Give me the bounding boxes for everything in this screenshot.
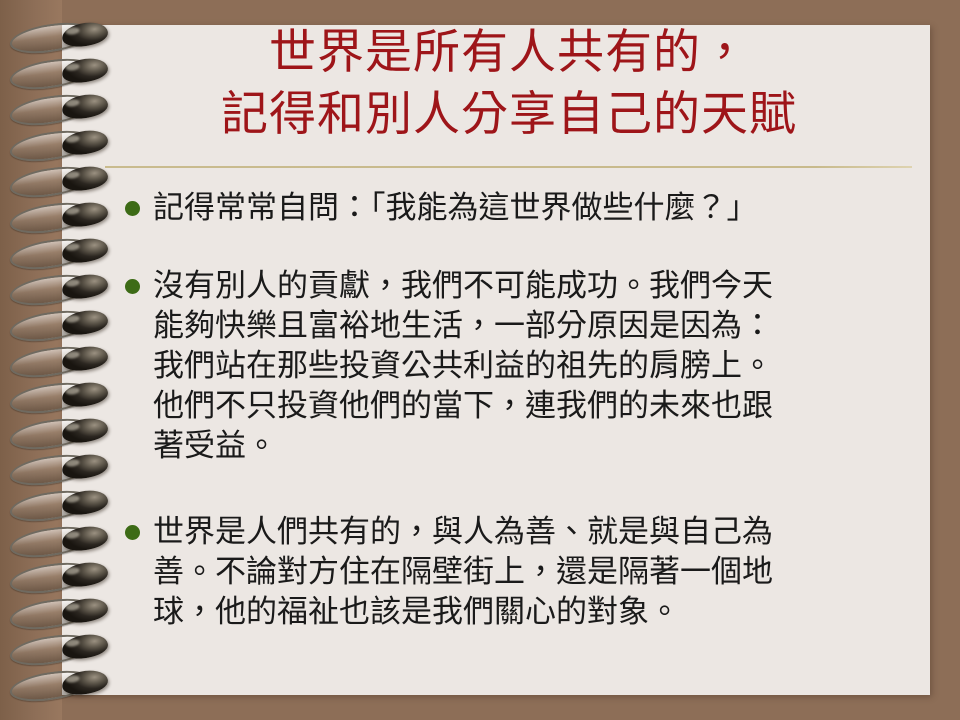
list-item-text: 記得常常自問：「我能為這世界做些什麼？」 [153, 188, 910, 228]
text-line: 他們不只投資他們的當下，連我們的未來也跟 [153, 386, 910, 426]
text-line: 著受益。 [153, 426, 910, 466]
list-item-text: 世界是人們共有的，與人為善、就是與自己為 善。不論對方住在隔壁街上，還是隔著一個… [153, 512, 910, 632]
text-line: 善。不論對方住在隔壁街上，還是隔著一個地 [153, 552, 910, 592]
text-line: 我們站在那些投資公共利益的祖先的肩膀上。 [153, 346, 910, 386]
text-line: 記得常常自問：「我能為這世界做些什麼？」 [153, 188, 910, 228]
slide-title: 世界是所有人共有的， 記得和別人分享自己的天賦 [105, 22, 913, 146]
text-line: 世界是人們共有的，與人為善、就是與自己為 [153, 512, 910, 552]
text-line: 沒有別人的貢獻，我們不可能成功。我們今天 [153, 266, 910, 306]
slide-canvas: 世界是所有人共有的， 記得和別人分享自己的天賦 記得常常自問：「我能為這世界做些… [0, 0, 960, 720]
bullet-dot-icon [125, 201, 140, 216]
list-item-text: 沒有別人的貢獻，我們不可能成功。我們今天 能夠快樂且富裕地生活，一部分原因是因為… [153, 266, 910, 466]
list-item: 記得常常自問：「我能為這世界做些什麼？」 [120, 188, 910, 228]
text-line: 球，他的福祉也該是我們關心的對象。 [153, 592, 910, 632]
title-line-2: 記得和別人分享自己的天賦 [105, 84, 913, 146]
title-divider-rule [105, 166, 912, 168]
text-line: 能夠快樂且富裕地生活，一部分原因是因為： [153, 306, 910, 346]
list-item: 沒有別人的貢獻，我們不可能成功。我們今天 能夠快樂且富裕地生活，一部分原因是因為… [120, 266, 910, 466]
bullet-dot-icon [125, 525, 140, 540]
title-line-1: 世界是所有人共有的， [105, 22, 913, 84]
list-item: 世界是人們共有的，與人為善、就是與自己為 善。不論對方住在隔壁街上，還是隔著一個… [120, 512, 910, 632]
bullet-list: 記得常常自問：「我能為這世界做些什麼？」 沒有別人的貢獻，我們不可能成功。我們今… [120, 188, 910, 632]
bullet-dot-icon [125, 279, 140, 294]
